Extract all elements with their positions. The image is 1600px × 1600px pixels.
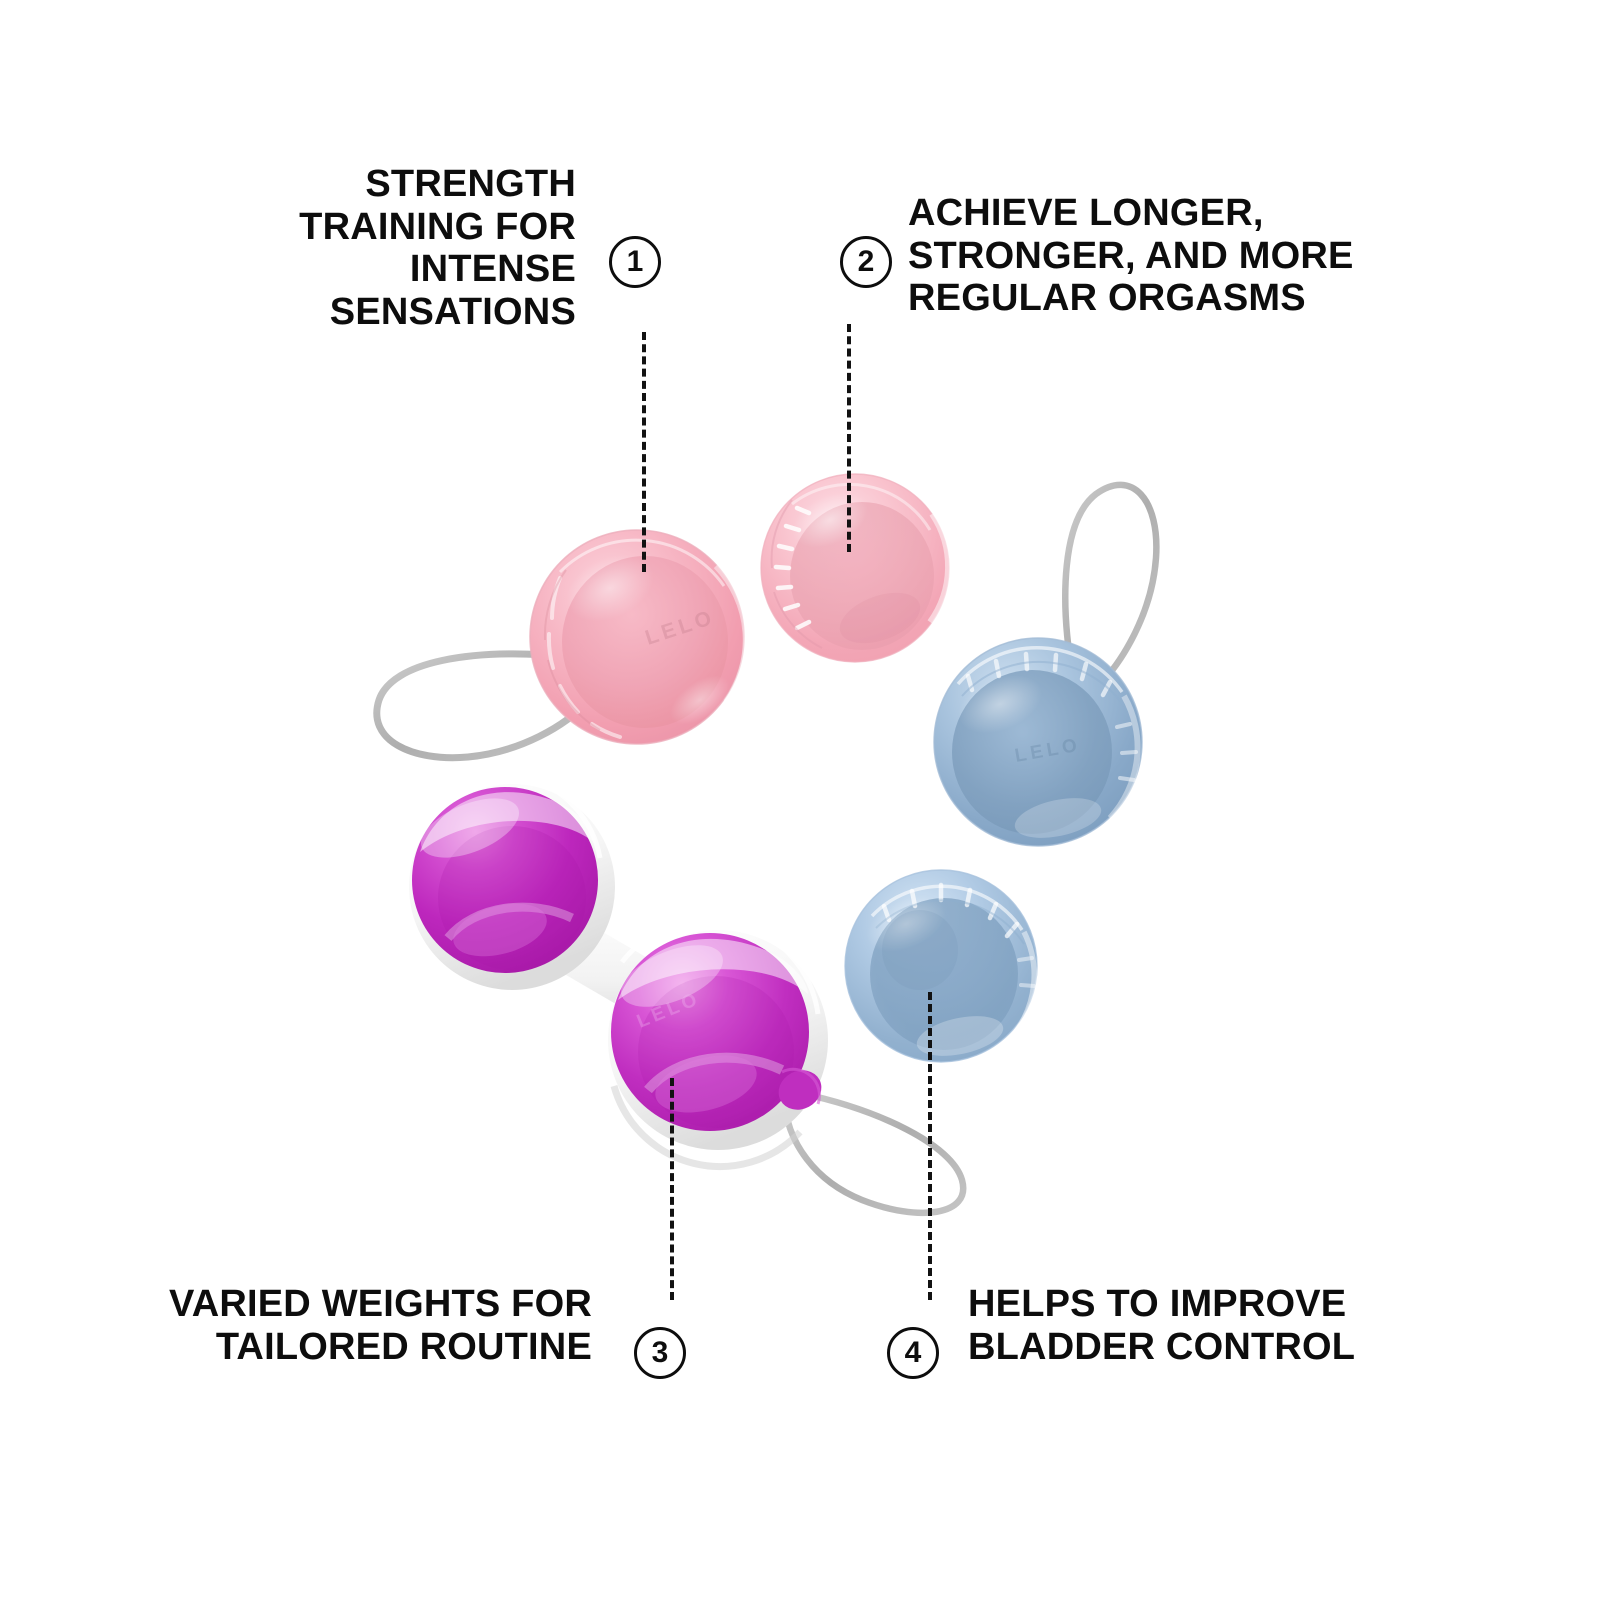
leader-line-3: [670, 1078, 674, 1300]
infographic-canvas: LELO: [0, 0, 1600, 1600]
leader-line-1: [642, 332, 646, 572]
product-pink-ball-plain: [761, 474, 949, 662]
callout-badge-4[interactable]: 4: [887, 1327, 939, 1379]
product-blue-ball-with-cord: LELO: [934, 485, 1156, 846]
product-blue-ball-lower: [845, 870, 1037, 1063]
leader-line-4: [928, 992, 932, 1300]
cord-loop-purple: [786, 1093, 963, 1213]
callout-badge-3[interactable]: 3: [634, 1327, 686, 1379]
product-pink-ball-with-cord: LELO: [377, 530, 746, 758]
callout-badge-1[interactable]: 1: [609, 236, 661, 288]
callout-badge-2[interactable]: 2: [840, 236, 892, 288]
product-artwork: LELO: [0, 0, 1600, 1600]
leader-line-2: [847, 324, 851, 552]
